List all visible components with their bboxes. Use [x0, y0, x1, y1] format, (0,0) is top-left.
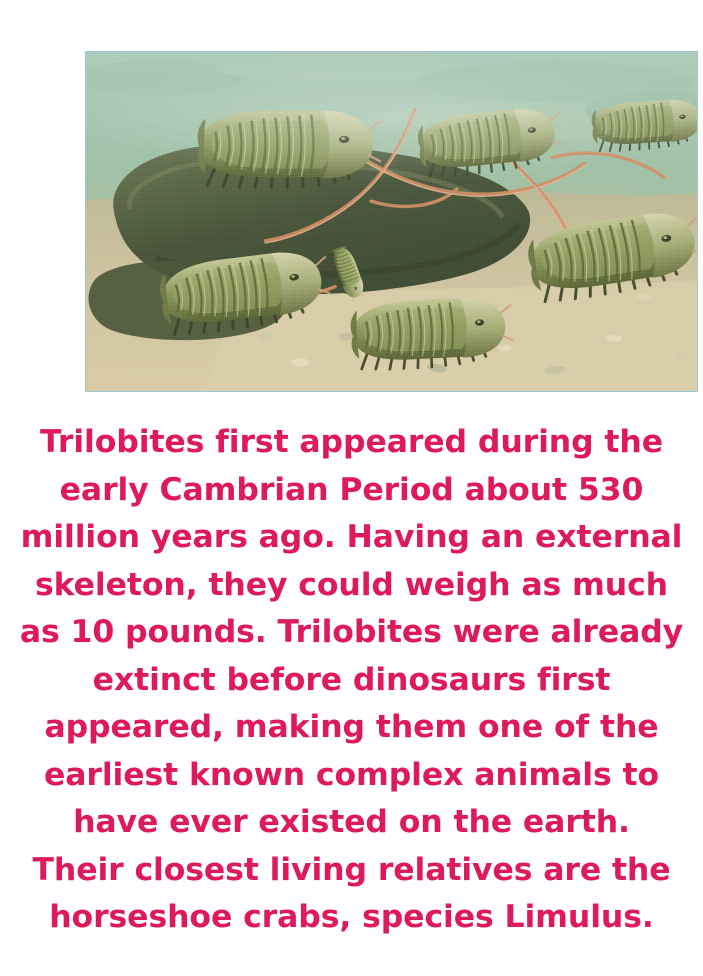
caption-line: Trilobites first appeared during the [0, 419, 703, 467]
seafloor-illustration [86, 52, 697, 391]
caption-line: Their closest living relatives are the [0, 847, 703, 895]
caption-line: early Cambrian Period about 530 [0, 467, 703, 515]
underwater-scene [86, 52, 697, 391]
caption-line: extinct before dinosaurs first [0, 657, 703, 705]
caption-line: as 10 pounds. Trilobites were already [0, 609, 703, 657]
caption-line: earliest known complex animals to [0, 752, 703, 800]
caption-line: horseshoe crabs, species Limulus. [0, 894, 703, 942]
caption-line: have ever existed on the earth. [0, 799, 703, 847]
caption-line: skeleton, they could weigh as much [0, 562, 703, 610]
caption-text-block: Trilobites first appeared during the ear… [0, 419, 703, 942]
trilobite-photo [85, 51, 698, 392]
caption-line: million years ago. Having an external [0, 514, 703, 562]
caption-line: appeared, making them one of the [0, 704, 703, 752]
